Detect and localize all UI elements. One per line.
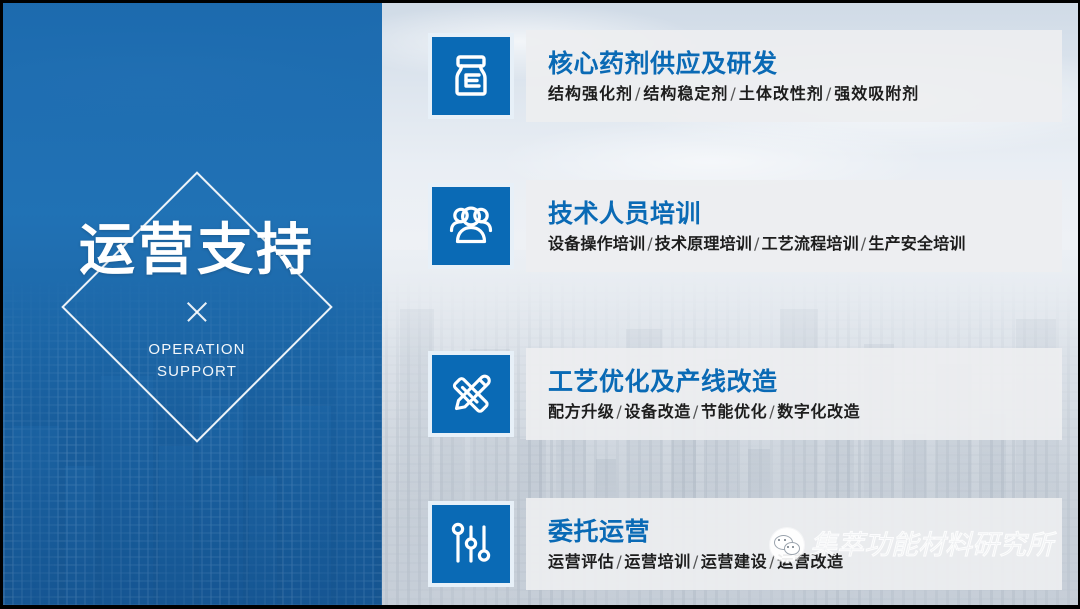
content-row[interactable]: 技术人员培训 设备操作培训/技术原理培训/工艺流程培训/生产安全培训 [428,180,1062,272]
row-item: 设备改造 [624,402,690,421]
row-title: 委托运营 [548,518,1062,546]
row-item: 数字化改造 [777,402,860,421]
row-item: 运营建设 [701,552,767,571]
row-subtitle: 设备操作培训/技术原理培训/工艺流程培训/生产安全培训 [548,235,1062,253]
row-item: 强效吸附剂 [834,84,919,103]
row-item: 运营评估 [548,552,614,571]
row-separator: / [859,234,869,253]
content-row[interactable]: 工艺优化及产线改造 配方升级/设备改造/节能优化/数字化改造 [428,348,1062,440]
content-row[interactable]: 核心药剂供应及研发 结构强化剂/结构稳定剂/土体改性剂/强效吸附剂 [428,30,1062,122]
row-item: 运营培训 [624,552,690,571]
content-row[interactable]: 委托运营 运营评估/运营培训/运营建设/运营改造 [428,498,1062,590]
row-subtitle: 配方升级/设备改造/节能优化/数字化改造 [548,403,1062,421]
x-cross-icon [184,299,210,325]
row-separator: / [691,402,701,421]
row-item: 技术原理培训 [655,234,752,253]
panel-subtitle-line1: OPERATION [61,339,333,361]
slide-root: 运营支持 OPERATION SUPPORT [0,0,1080,609]
row-item: 设备操作培训 [548,234,645,253]
row-item: 工艺流程培训 [762,234,859,253]
people-group-icon [428,183,514,269]
panel-subtitle: OPERATION SUPPORT [61,339,333,383]
frame-edge-top [0,0,1080,3]
row-item: 节能优化 [701,402,767,421]
row-separator: / [614,402,624,421]
row-separator: / [633,84,643,103]
content-rows: 核心药剂供应及研发 结构强化剂/结构稳定剂/土体改性剂/强效吸附剂 [428,0,1080,609]
row-subtitle: 结构强化剂/结构稳定剂/土体改性剂/强效吸附剂 [548,85,1062,103]
row-bar: 工艺优化及产线改造 配方升级/设备改造/节能优化/数字化改造 [526,348,1062,440]
row-item: 结构稳定剂 [643,84,728,103]
left-title-panel: 运营支持 OPERATION SUPPORT [3,3,382,606]
row-item: 配方升级 [548,402,614,421]
row-item: 生产安全培训 [868,234,965,253]
row-separator: / [691,552,701,571]
row-bar: 技术人员培训 设备操作培训/技术原理培训/工艺流程培训/生产安全培训 [526,180,1062,272]
diamond-badge: 运营支持 OPERATION SUPPORT [61,171,333,443]
pencil-ruler-icon [428,351,514,437]
row-item: 土体改性剂 [739,84,824,103]
row-bar: 委托运营 运营评估/运营培训/运营建设/运营改造 [526,498,1062,590]
row-separator: / [824,84,834,103]
row-separator: / [728,84,738,103]
sliders-icon [428,501,514,587]
frame-edge-left [0,0,3,609]
row-title: 技术人员培训 [548,200,1062,228]
panel-title: 运营支持 [61,223,333,279]
panel-subtitle-line2: SUPPORT [61,361,333,383]
medicine-bottle-icon [428,33,514,119]
row-separator: / [767,552,777,571]
row-item: 运营改造 [777,552,843,571]
row-separator: / [614,552,624,571]
row-subtitle: 运营评估/运营培训/运营建设/运营改造 [548,553,1062,571]
row-separator: / [767,402,777,421]
row-separator: / [752,234,762,253]
row-separator: / [645,234,655,253]
row-title: 工艺优化及产线改造 [548,368,1062,396]
frame-edge-bottom [0,605,1080,609]
row-item: 结构强化剂 [548,84,633,103]
row-title: 核心药剂供应及研发 [548,50,1062,78]
row-bar: 核心药剂供应及研发 结构强化剂/结构稳定剂/土体改性剂/强效吸附剂 [526,30,1062,122]
